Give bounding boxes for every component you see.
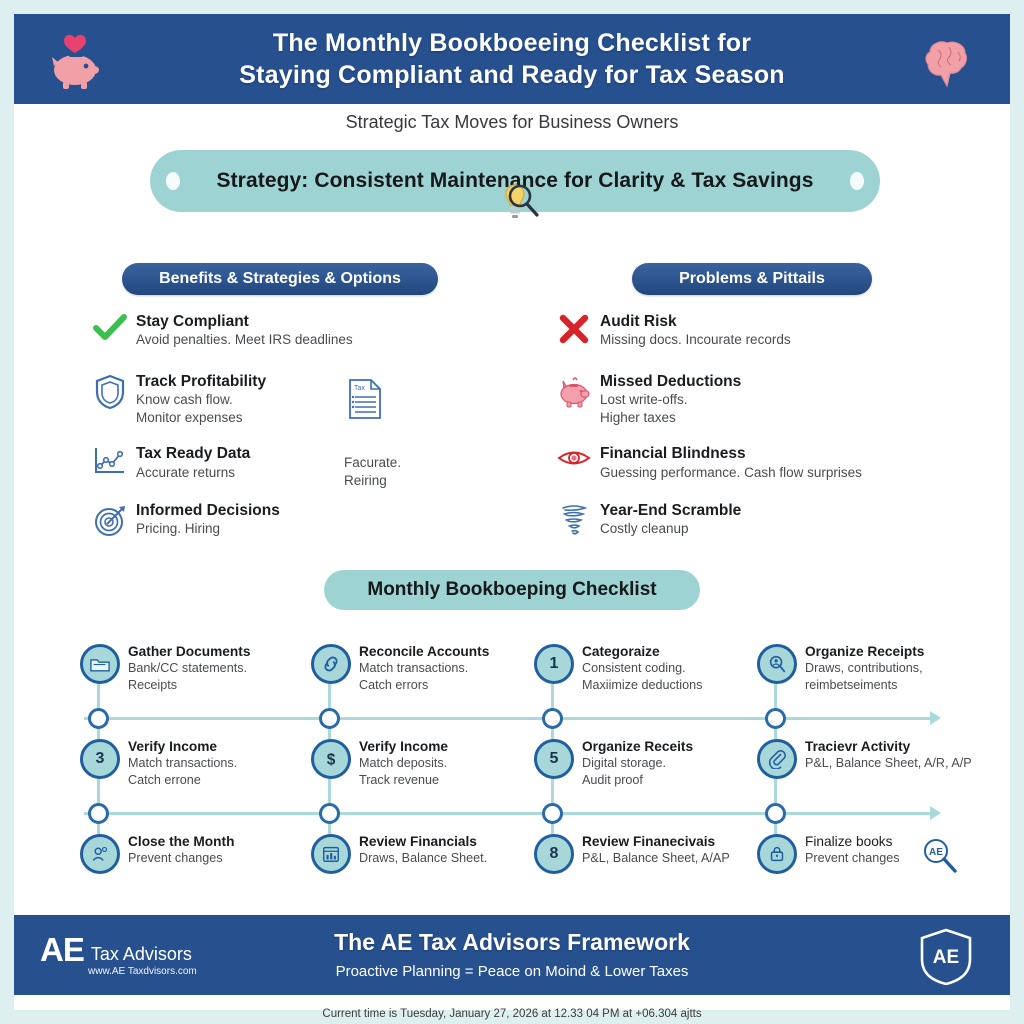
header-banner: The Monthly Bookboeeing Checklist for St… <box>14 14 1010 104</box>
timestamp: Current time is Tuesday, January 27, 202… <box>0 1008 1024 1020</box>
subtitle: Strategic Tax Moves for Business Owners <box>0 112 1024 133</box>
pitfalls-heading: Problems & Pittails <box>632 263 872 295</box>
footer-title: The AE Tax Advisors Framework <box>14 929 1010 956</box>
item-title: Informed Decisions <box>136 501 514 520</box>
infographic-page: The Monthly Bookboeeing Checklist for St… <box>0 0 1024 1024</box>
item-title: Track Profitability <box>136 372 514 391</box>
checklist-step[interactable]: Tracievr Activity P&L, Balance Sheet, A/… <box>757 739 987 779</box>
svg-text:AE: AE <box>929 847 943 858</box>
magnifier-lightbulb-icon <box>494 178 542 222</box>
step-title: Organize Receipts <box>805 644 977 660</box>
link-icon <box>311 644 351 684</box>
calendar-chart-icon <box>311 834 351 874</box>
timeline-node[interactable] <box>319 708 340 729</box>
step-desc: Bank/CC statements. Receipts <box>128 660 330 693</box>
timeline-arrow-row2 <box>930 806 941 820</box>
step-desc: P&L, Balance Sheet, A/AP <box>582 850 749 866</box>
item-desc: Know cash flow. Monitor expenses <box>136 391 514 427</box>
pill-dot-right <box>850 172 864 190</box>
timeline-arrow-row1 <box>930 711 941 725</box>
item-title: Financial Blindness <box>600 444 968 463</box>
page-title-line2: Staying Compliant and Ready for Tax Seas… <box>239 59 785 91</box>
step-desc: Prevent changes <box>805 850 937 866</box>
footer-center: The AE Tax Advisors Framework Proactive … <box>14 929 1010 980</box>
tornado-icon <box>548 501 600 539</box>
item-desc: Lost write-offs. Higher taxes <box>600 391 968 427</box>
step-title: Close the Month <box>128 834 330 850</box>
item-desc: Costly cleanup <box>600 520 968 538</box>
timeline-node[interactable] <box>319 803 340 824</box>
lock-icon <box>757 834 797 874</box>
target-arrow-icon <box>84 501 136 539</box>
item-desc: Pricing. Hiring <box>136 520 514 538</box>
paperclip-icon <box>757 739 797 779</box>
brain-icon <box>916 38 976 90</box>
step-desc: Match transactions. Catch errors <box>359 660 561 693</box>
pill-dot-left <box>166 172 180 190</box>
footer-subtitle: Proactive Planning = Peace on Moind & Lo… <box>14 963 1010 980</box>
page-title-line1: The Monthly Bookboeeing Checklist for <box>239 27 785 59</box>
step-title: Tracievr Activity <box>805 739 987 755</box>
step-title: Verify Income <box>128 739 330 755</box>
page-title: The Monthly Bookboeeing Checklist for St… <box>239 27 785 91</box>
timeline-node[interactable] <box>542 708 563 729</box>
extra-note: Facurate. Reiring <box>344 454 401 490</box>
timeline-node[interactable] <box>88 708 109 729</box>
step-title: Organize Receits <box>582 739 784 755</box>
item-desc: Avoid penalties. Meet IRS deadlines <box>136 331 514 349</box>
list-item: Missed Deductions Lost write-offs. Highe… <box>548 372 968 428</box>
timeline-node[interactable] <box>88 803 109 824</box>
list-item: Tax Ready Data Accurate returns <box>84 444 514 482</box>
step-title: Gather Documents <box>128 644 330 660</box>
step-desc: Consistent coding. Maxiimize deductions <box>582 660 784 693</box>
step-number-badge: 1 <box>534 644 574 684</box>
checklist-step[interactable]: 1 Categoraize Consistent coding. Maxiimi… <box>534 644 784 693</box>
timeline-node[interactable] <box>765 803 786 824</box>
checklist-step[interactable]: Close the Month Prevent changes <box>80 834 330 874</box>
step-desc: Match transactions. Catch errone <box>128 755 330 788</box>
step-title: Finalize books <box>805 834 937 850</box>
tax-document-icon: Tax <box>348 378 388 426</box>
timeline-line-row2 <box>84 812 934 815</box>
list-item: Financial Blindness Guessing performance… <box>548 444 968 482</box>
list-item: Year-End Scramble Costly cleanup <box>548 501 968 539</box>
step-desc: P&L, Balance Sheet, A/R, A/P <box>805 755 987 771</box>
timeline-node[interactable] <box>542 803 563 824</box>
checklist-step[interactable]: 8 Review Finanecivais P&L, Balance Sheet… <box>534 834 749 874</box>
step-number-badge: 8 <box>534 834 574 874</box>
list-item: Stay Compliant Avoid penalties. Meet IRS… <box>84 312 514 350</box>
checklist-step[interactable]: Finalize books Prevent changes <box>757 834 937 874</box>
step-title: Review Finanecivais <box>582 834 749 850</box>
timeline-node[interactable] <box>765 708 786 729</box>
item-title: Year-End Scramble <box>600 501 968 520</box>
magnifier-person-icon <box>757 644 797 684</box>
svg-text:$: $ <box>327 751 336 768</box>
checklist-step[interactable]: Gather Documents Bank/CC statements. Rec… <box>80 644 330 693</box>
list-item: Track Profitability Know cash flow. Moni… <box>84 372 514 428</box>
item-desc: Guessing performance. Cash flow surprise… <box>600 464 968 482</box>
ae-magnifier-icon: AE <box>920 836 960 876</box>
step-desc: Draws, contributions, reimbetseiments <box>805 660 977 693</box>
footer-banner: AE Tax Advisors www.AE Taxdvisors.com Th… <box>14 915 1010 995</box>
checklist-step[interactable]: Organize Receipts Draws, contributions, … <box>757 644 977 693</box>
item-title: Tax Ready Data <box>136 444 514 463</box>
piggy-bank-heart-icon <box>44 34 106 90</box>
red-eye-icon <box>548 444 600 482</box>
step-title: Categoraize <box>582 644 784 660</box>
step-desc: Digital storage. Audit proof <box>582 755 784 788</box>
folder-icon <box>80 644 120 684</box>
step-desc: Draws, Balance Sheet. <box>359 850 561 866</box>
ae-shield-icon: AE <box>918 927 974 985</box>
checklist-step[interactable]: Reconcile Accounts Match transactions. C… <box>311 644 561 693</box>
timeline-line-row1 <box>84 717 934 720</box>
pink-piggy-icon <box>548 372 600 428</box>
benefits-heading: Benefits & Strategies & Options <box>122 263 438 295</box>
item-desc: Missing docs. Incourate records <box>600 331 968 349</box>
pitfalls-list: Audit Risk Missing docs. Incourate recor… <box>548 312 968 547</box>
svg-text:AE: AE <box>933 947 959 968</box>
step-number-badge: 3 <box>80 739 120 779</box>
item-title: Audit Risk <box>600 312 968 331</box>
step-title: Reconcile Accounts <box>359 644 561 660</box>
item-desc: Accurate returns <box>136 464 514 482</box>
people-icon <box>80 834 120 874</box>
shield-icon <box>84 372 136 428</box>
checklist-banner: Monthly Bookboeping Checklist <box>324 570 700 610</box>
step-title: Verify Income <box>359 739 561 755</box>
green-check-icon <box>84 312 136 350</box>
step-title: Review Financials <box>359 834 561 850</box>
step-desc: Prevent changes <box>128 850 330 866</box>
checklist-step[interactable]: $ Verify Income Match deposits. Track re… <box>311 739 561 788</box>
line-chart-icon <box>84 444 136 482</box>
dollar-icon: $ <box>311 739 351 779</box>
step-desc: Match deposits. Track revenue <box>359 755 561 788</box>
list-item: Audit Risk Missing docs. Incourate recor… <box>548 312 968 350</box>
item-title: Missed Deductions <box>600 372 968 391</box>
checklist-timeline: Gather Documents Bank/CC statements. Rec… <box>0 632 1024 900</box>
checklist-step[interactable]: 3 Verify Income Match transactions. Catc… <box>80 739 330 788</box>
benefits-list: Stay Compliant Avoid penalties. Meet IRS… <box>84 312 514 547</box>
checklist-step[interactable]: Review Financials Draws, Balance Sheet. <box>311 834 561 874</box>
step-number-badge: 5 <box>534 739 574 779</box>
list-item: Informed Decisions Pricing. Hiring <box>84 501 514 539</box>
red-x-icon <box>548 312 600 350</box>
svg-text:Tax: Tax <box>354 385 365 392</box>
item-title: Stay Compliant <box>136 312 514 331</box>
checklist-step[interactable]: 5 Organize Receits Digital storage. Audi… <box>534 739 784 788</box>
